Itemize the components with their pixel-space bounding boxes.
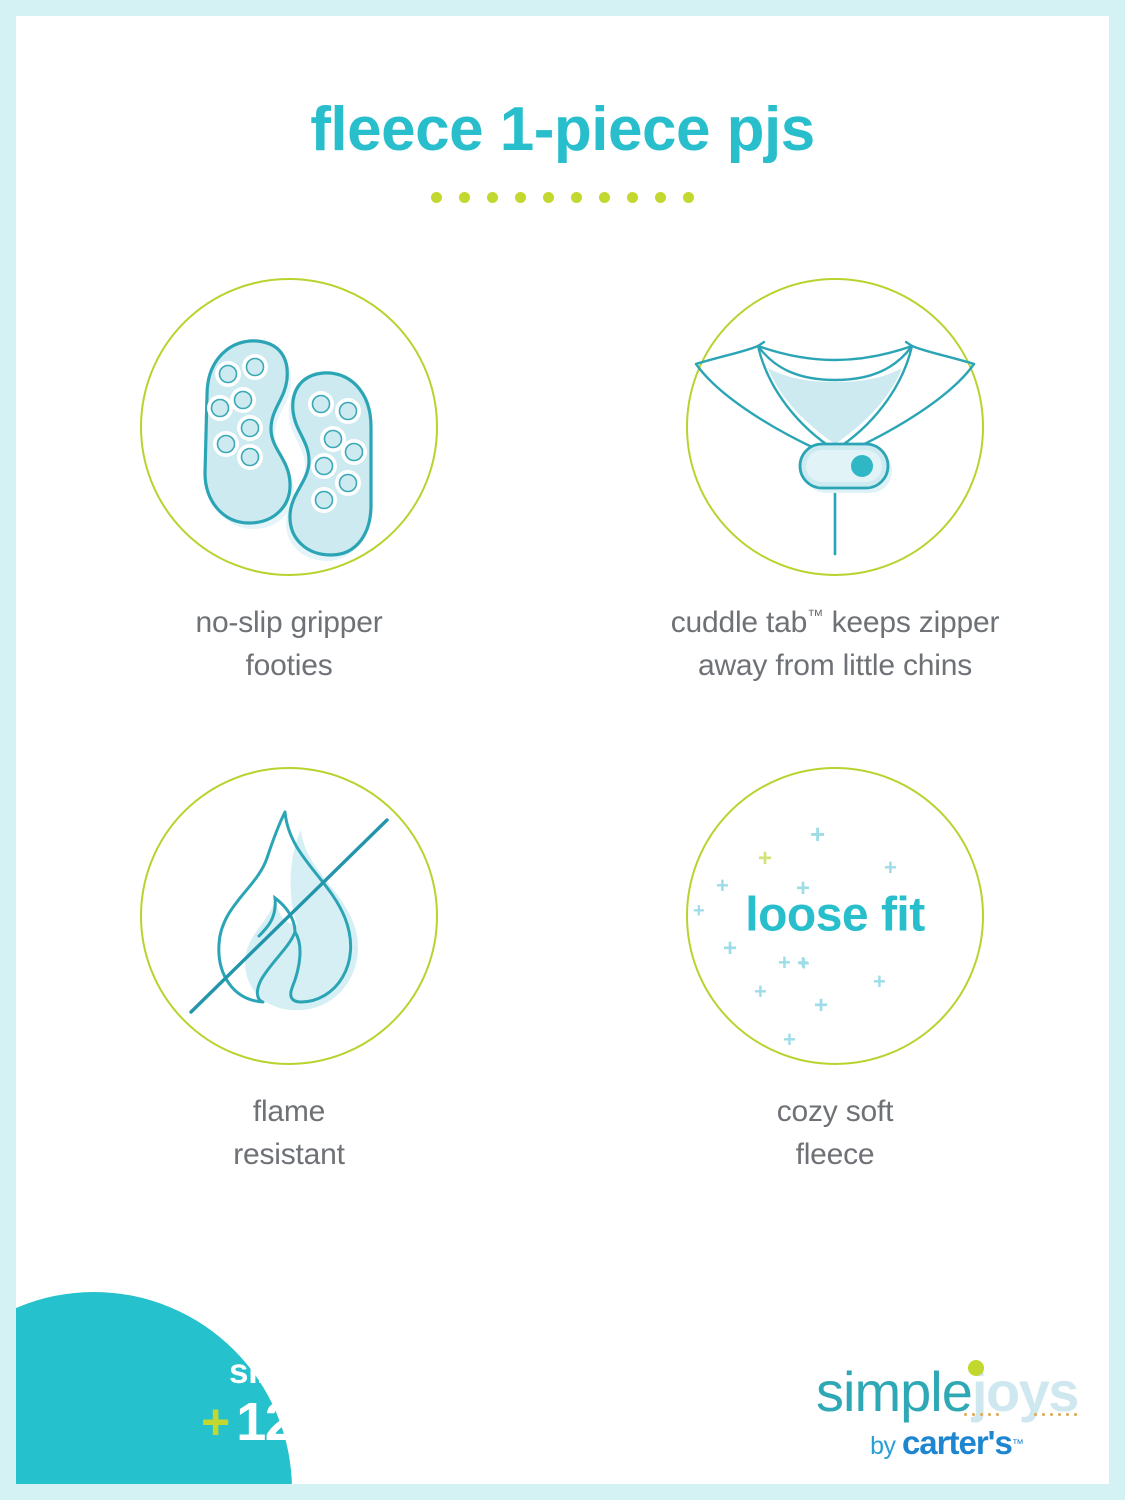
feature-icon-ring: ++++++++++++++ loose fit bbox=[686, 767, 984, 1065]
sparkle-plus-icon: + bbox=[873, 971, 886, 993]
divider-dot bbox=[487, 192, 498, 203]
feature-flame-resistant: flame resistant bbox=[16, 767, 562, 1176]
logo-j-dot-icon bbox=[968, 1360, 984, 1376]
caption-line: no-slip gripper bbox=[195, 602, 382, 645]
sparkle-plus-icon: + bbox=[778, 952, 791, 974]
sparkle-plus-icon: + bbox=[814, 994, 828, 1018]
sparkle-plus-icon: + bbox=[797, 953, 809, 973]
feature-icon-ring bbox=[140, 278, 438, 576]
sparkle-plus-icon: + bbox=[884, 857, 897, 879]
divider-dot bbox=[627, 192, 638, 203]
infographic-page: fleece 1-piece pjs bbox=[0, 0, 1125, 1500]
infographic-canvas: fleece 1-piece pjs bbox=[16, 16, 1109, 1484]
divider-dot bbox=[543, 192, 554, 203]
feature-icon-ring bbox=[686, 278, 984, 576]
divider-dot bbox=[655, 192, 666, 203]
footie-soles-icon bbox=[149, 287, 429, 567]
caption-line: flame bbox=[233, 1091, 345, 1134]
plus-icon: + bbox=[201, 1397, 230, 1447]
sizes-badge-content: sizes + 12m-5t bbox=[201, 1354, 501, 1449]
divider-dot bbox=[459, 192, 470, 203]
loose-fit-badge-text: loose fit bbox=[688, 888, 982, 943]
caption-line: resistant bbox=[233, 1134, 345, 1177]
caption-line: away from little chins bbox=[671, 645, 1000, 688]
logo-dotted-underline-left bbox=[964, 1413, 999, 1416]
divider-dot bbox=[431, 192, 442, 203]
sparkle-plus-icon: + bbox=[810, 821, 825, 847]
feature-row: no-slip gripper footies bbox=[16, 278, 1109, 687]
feature-gripper-footies: no-slip gripper footies bbox=[16, 278, 562, 687]
divider-dot bbox=[515, 192, 526, 203]
sizes-label: sizes bbox=[229, 1354, 501, 1389]
title-dot-divider bbox=[16, 192, 1109, 203]
sparkle-plus-icon: + bbox=[754, 981, 767, 1003]
brand-logo: simplejoys by carter's™ bbox=[802, 1364, 1092, 1459]
logo-by-text: by bbox=[870, 1432, 902, 1460]
divider-dot bbox=[683, 192, 694, 203]
feature-grid: no-slip gripper footies bbox=[16, 278, 1109, 1176]
trademark-symbol: ™ bbox=[807, 607, 823, 625]
sizes-range: 12m-5t bbox=[236, 1395, 401, 1449]
caption-text: keeps zipper bbox=[823, 606, 999, 639]
page-title: fleece 1-piece pjs bbox=[16, 94, 1109, 165]
sizes-range-row: + 12m-5t bbox=[201, 1395, 501, 1449]
feature-row: flame resistant ++++++++++++++ loose fit… bbox=[16, 767, 1109, 1176]
logo-carters-text: carter's bbox=[902, 1424, 1012, 1461]
caption-line: cozy soft bbox=[777, 1091, 894, 1134]
feature-caption: no-slip gripper footies bbox=[195, 602, 382, 687]
caption-line: footies bbox=[195, 645, 382, 688]
caption-line: cuddle tab™ keeps zipper bbox=[671, 602, 1000, 645]
feature-cuddle-tab: cuddle tab™ keeps zipper away from littl… bbox=[562, 278, 1108, 687]
feature-caption: flame resistant bbox=[233, 1091, 345, 1176]
divider-dot bbox=[599, 192, 610, 203]
logo-trademark-symbol: ™ bbox=[1012, 1437, 1024, 1451]
collar-cuddle-tab-icon bbox=[690, 282, 980, 572]
feature-cozy-soft-fleece: ++++++++++++++ loose fit cozy soft fleec… bbox=[562, 767, 1108, 1176]
caption-text: cuddle tab bbox=[671, 606, 807, 639]
caption-line: fleece bbox=[777, 1134, 894, 1177]
logo-wordmark: simplejoys bbox=[816, 1364, 1078, 1420]
logo-byline: by carter's™ bbox=[802, 1426, 1092, 1459]
logo-dotted-underline-right bbox=[1034, 1413, 1077, 1416]
logo-simple-text: simple bbox=[816, 1360, 972, 1423]
feature-caption: cuddle tab™ keeps zipper away from littl… bbox=[671, 602, 1000, 687]
no-flame-icon bbox=[149, 776, 429, 1056]
sparkle-plus-icon: + bbox=[758, 847, 772, 871]
divider-dot bbox=[571, 192, 582, 203]
feature-icon-ring bbox=[140, 767, 438, 1065]
sparkle-plus-icon: + bbox=[783, 1029, 796, 1051]
feature-caption: cozy soft fleece bbox=[777, 1091, 894, 1176]
